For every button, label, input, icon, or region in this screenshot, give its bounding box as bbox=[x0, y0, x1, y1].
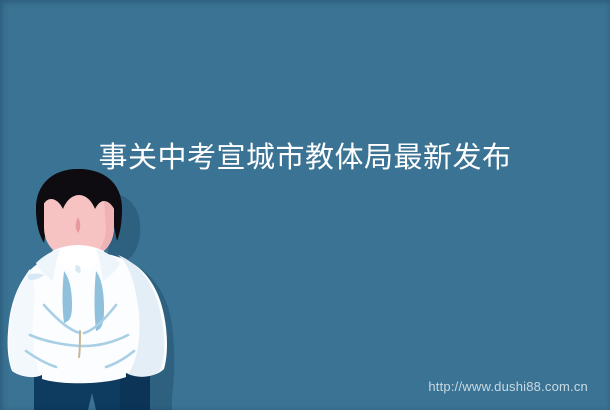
illustration-young-man-in-white-hoodie bbox=[0, 165, 200, 410]
page-title: 事关中考宣城市教体局最新发布 bbox=[0, 141, 610, 175]
watermark-url: http://www.dushi88.com.cn bbox=[428, 379, 588, 394]
drawstring-tail bbox=[79, 331, 80, 357]
poster-image: 事关中考宣城市教体局最新发布 http://www.dushi88.com.cn bbox=[0, 0, 610, 410]
